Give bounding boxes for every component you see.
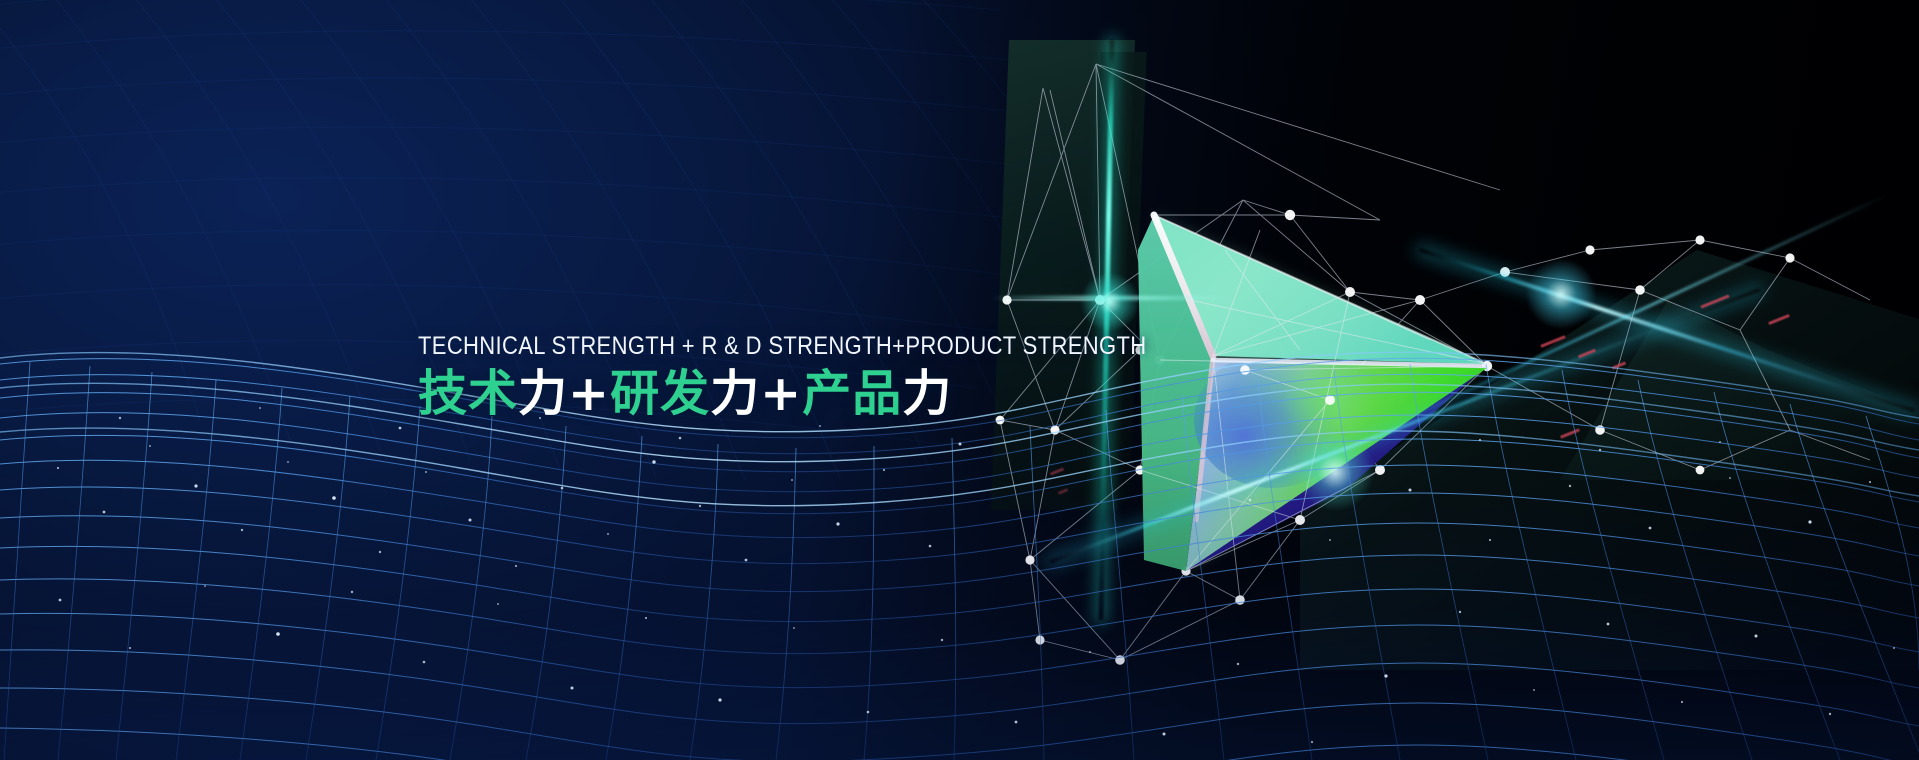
headline-cn-part-8: 力 (902, 365, 952, 422)
hero-banner: TECHNICAL STRENGTH + R & D STRENGTH+PROD… (0, 0, 1919, 760)
headline-cn-part-2: 力 (518, 365, 568, 422)
headline-block: TECHNICAL STRENGTH + R & D STRENGTH+PROD… (418, 333, 1246, 421)
headline-cn-part-7: 产品 (802, 365, 902, 422)
headline-cn-part-5: 力 (710, 365, 760, 422)
headline-cn-part-1: 技术 (418, 365, 518, 422)
headline-chinese: 技术力+研发力+产品力 (418, 367, 1246, 422)
headline-english: TECHNICAL STRENGTH + R & D STRENGTH+PROD… (418, 333, 1146, 361)
headline-cn-part-4: 研发 (610, 365, 710, 422)
headline-cn-part-6: + (760, 365, 802, 422)
headline-cn-part-3: + (568, 365, 610, 422)
